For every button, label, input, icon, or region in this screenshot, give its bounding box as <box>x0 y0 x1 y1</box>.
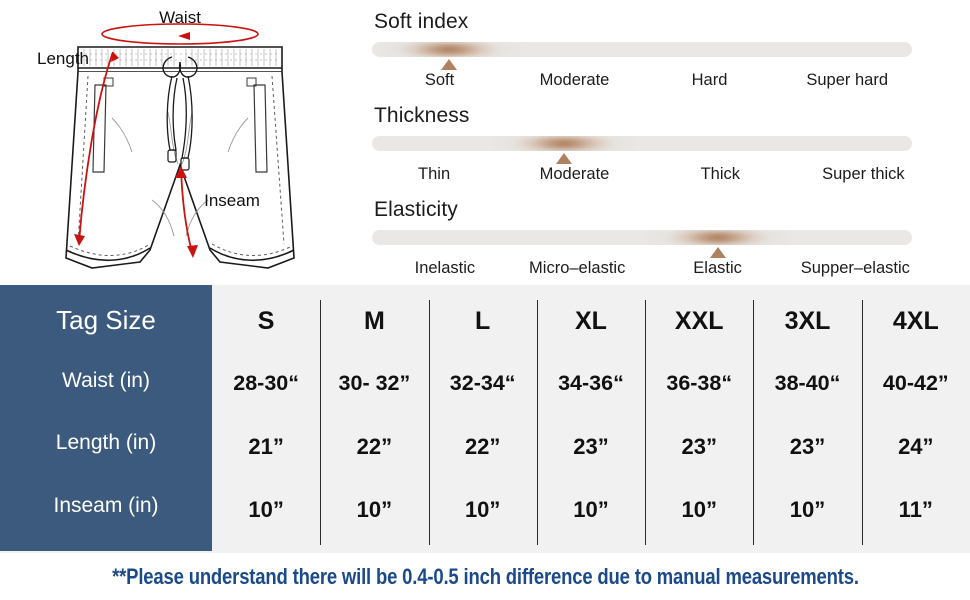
index-bar-labels: Soft Moderate Hard Super hard <box>372 71 912 97</box>
index-bar-labels: Thin Moderate Thick Super thick <box>372 165 912 191</box>
index-scale-label: Super thick <box>822 165 905 184</box>
size-header-cell: 3XL <box>753 307 861 336</box>
table-column-l: L 32-34“ 22” 10” <box>429 285 537 553</box>
table-header-label: Tag Size <box>0 305 212 336</box>
index-bar-highlight <box>374 42 524 57</box>
size-header-cell: S <box>212 307 320 336</box>
waist-cell: 32-34“ <box>429 371 537 396</box>
index-scale-label: Inelastic <box>415 259 476 278</box>
waist-cell: 40-42” <box>862 371 970 396</box>
inseam-annotation-label: Inseam <box>204 191 260 210</box>
waist-cell: 36-38“ <box>645 371 753 396</box>
size-header-cell: XL <box>537 307 645 336</box>
waist-measure-arrow <box>102 24 258 44</box>
table-row-label-waist: Waist (in) <box>0 369 212 393</box>
index-scale-label: Elastic <box>693 259 742 278</box>
measurement-disclaimer: **Please understand there will be 0.4-0.… <box>0 553 970 600</box>
shorts-diagram: Waist Length Inseam <box>0 0 360 285</box>
index-bar <box>372 42 912 57</box>
length-annotation-label: Length <box>37 49 89 68</box>
index-bar-marker <box>556 153 572 164</box>
waist-annotation-label: Waist <box>159 8 201 27</box>
inseam-cell: 10” <box>429 497 537 523</box>
index-bar-highlight <box>489 136 639 151</box>
table-row-label-inseam: Inseam (in) <box>0 494 212 518</box>
index-bar-track <box>372 230 912 245</box>
index-scale-label: Thick <box>701 165 740 184</box>
length-cell: 22” <box>429 434 537 460</box>
disclaimer-text: **Please understand there will be 0.4-0.… <box>112 564 859 590</box>
index-bar-labels: Inelastic Micro–elastic Elastic Supper–e… <box>372 259 912 285</box>
table-column-m: M 30- 32” 22” 10” <box>320 285 428 553</box>
length-cell: 24” <box>862 434 970 460</box>
table-column-s: S 28-30“ 21” 10” <box>212 285 320 553</box>
inseam-cell: 11” <box>862 497 970 523</box>
index-group-soft-index: Soft index Soft Moderate Hard Super hard <box>372 8 912 97</box>
index-bar <box>372 230 912 245</box>
index-scale-label: Super hard <box>806 71 888 90</box>
table-data-grid: S 28-30“ 21” 10” M 30- 32” 22” 10” L 32-… <box>212 285 970 553</box>
table-column-4xl: 4XL 40-42” 24” 11” <box>862 285 970 553</box>
index-scale-label: Soft <box>425 71 454 90</box>
size-header-cell: 4XL <box>862 307 970 336</box>
size-chart-table: Tag Size Waist (in) Length (in) Inseam (… <box>0 285 970 553</box>
table-column-xl: XL 34-36“ 23” 10” <box>537 285 645 553</box>
table-row-label-length: Length (in) <box>0 431 212 455</box>
size-header-cell: XXL <box>645 307 753 336</box>
inseam-cell: 10” <box>645 497 753 523</box>
index-group-elasticity: Elasticity Inelastic Micro–elastic Elast… <box>372 196 912 285</box>
table-column-xxl: XXL 36-38“ 23” 10” <box>645 285 753 553</box>
fabric-index-panel: Soft index Soft Moderate Hard Super hard… <box>372 8 912 290</box>
index-bar-marker <box>441 59 457 70</box>
waist-cell: 38-40“ <box>753 371 861 396</box>
index-title: Soft index <box>374 8 912 36</box>
index-scale-label: Moderate <box>540 165 610 184</box>
inseam-cell: 10” <box>537 497 645 523</box>
index-title: Thickness <box>374 102 912 130</box>
index-bar-highlight <box>643 230 793 245</box>
length-cell: 21” <box>212 434 320 460</box>
top-section: Waist Length Inseam Soft index Soft Mode… <box>0 0 970 285</box>
length-cell: 22” <box>320 434 428 460</box>
size-header-cell: L <box>429 307 537 336</box>
length-cell: 23” <box>537 434 645 460</box>
index-group-thickness: Thickness Thin Moderate Thick Super thic… <box>372 102 912 191</box>
index-scale-label: Moderate <box>540 71 610 90</box>
shorts-outline <box>66 47 294 268</box>
index-scale-label: Supper–elastic <box>801 259 910 278</box>
index-bar <box>372 136 912 151</box>
inseam-cell: 10” <box>753 497 861 523</box>
index-scale-label: Thin <box>418 165 450 184</box>
index-title: Elasticity <box>374 196 912 224</box>
index-scale-label: Micro–elastic <box>529 259 625 278</box>
length-cell: 23” <box>645 434 753 460</box>
index-bar-track <box>372 42 912 57</box>
table-column-3xl: 3XL 38-40“ 23” 10” <box>753 285 861 553</box>
waist-cell: 28-30“ <box>212 371 320 396</box>
table-label-column: Tag Size Waist (in) Length (in) Inseam (… <box>0 285 212 551</box>
waist-cell: 34-36“ <box>537 371 645 396</box>
size-header-cell: M <box>320 307 428 336</box>
index-bar-marker <box>710 247 726 258</box>
inseam-cell: 10” <box>212 497 320 523</box>
inseam-cell: 10” <box>320 497 428 523</box>
index-scale-label: Hard <box>692 71 728 90</box>
waist-cell: 30- 32” <box>320 371 428 396</box>
index-bar-track <box>372 136 912 151</box>
length-cell: 23” <box>753 434 861 460</box>
